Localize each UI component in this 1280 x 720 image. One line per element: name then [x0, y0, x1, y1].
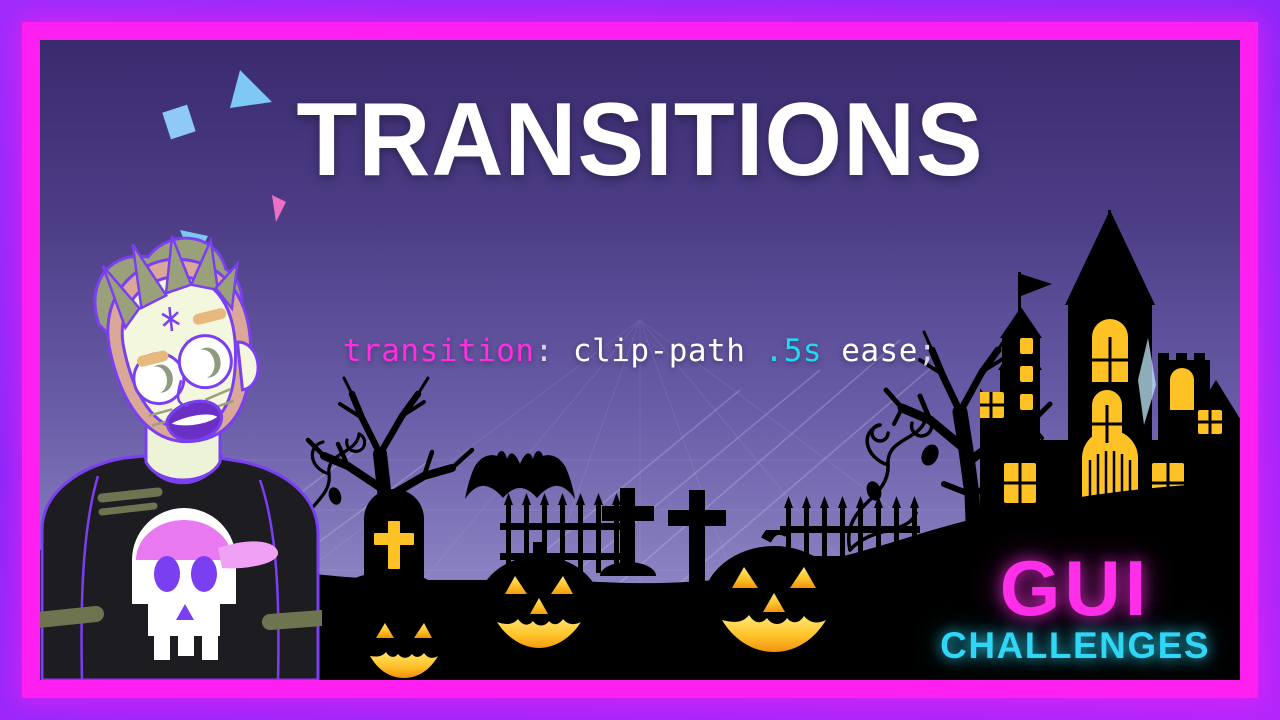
pumpkin-right — [356, 594, 452, 680]
code-duration: .5s — [765, 333, 823, 369]
logo-challenges-text: CHALLENGES — [940, 627, 1210, 664]
confetti-triangle-3 — [272, 195, 286, 222]
pumpkin-left — [475, 542, 603, 662]
code-snippet: transition: clip-path .5s ease; — [40, 333, 1240, 369]
thumbnail-stage: TRANSITIONS transition: clip-path .5s ea… — [40, 40, 1240, 680]
code-property: transition — [343, 333, 535, 369]
logo-gui-text: GUI — [940, 553, 1210, 625]
code-semicolon: ; — [918, 333, 937, 369]
gui-challenges-logo: GUI CHALLENGES — [940, 553, 1210, 664]
code-value-name: clip-path — [573, 333, 745, 369]
page-title: TRANSITIONS — [64, 88, 1216, 192]
zombie-host-character — [40, 230, 322, 680]
pumpkin-center — [700, 530, 848, 666]
code-easing: ease — [841, 333, 918, 369]
code-colon: : — [535, 333, 554, 369]
tombstone-cross — [352, 475, 448, 585]
